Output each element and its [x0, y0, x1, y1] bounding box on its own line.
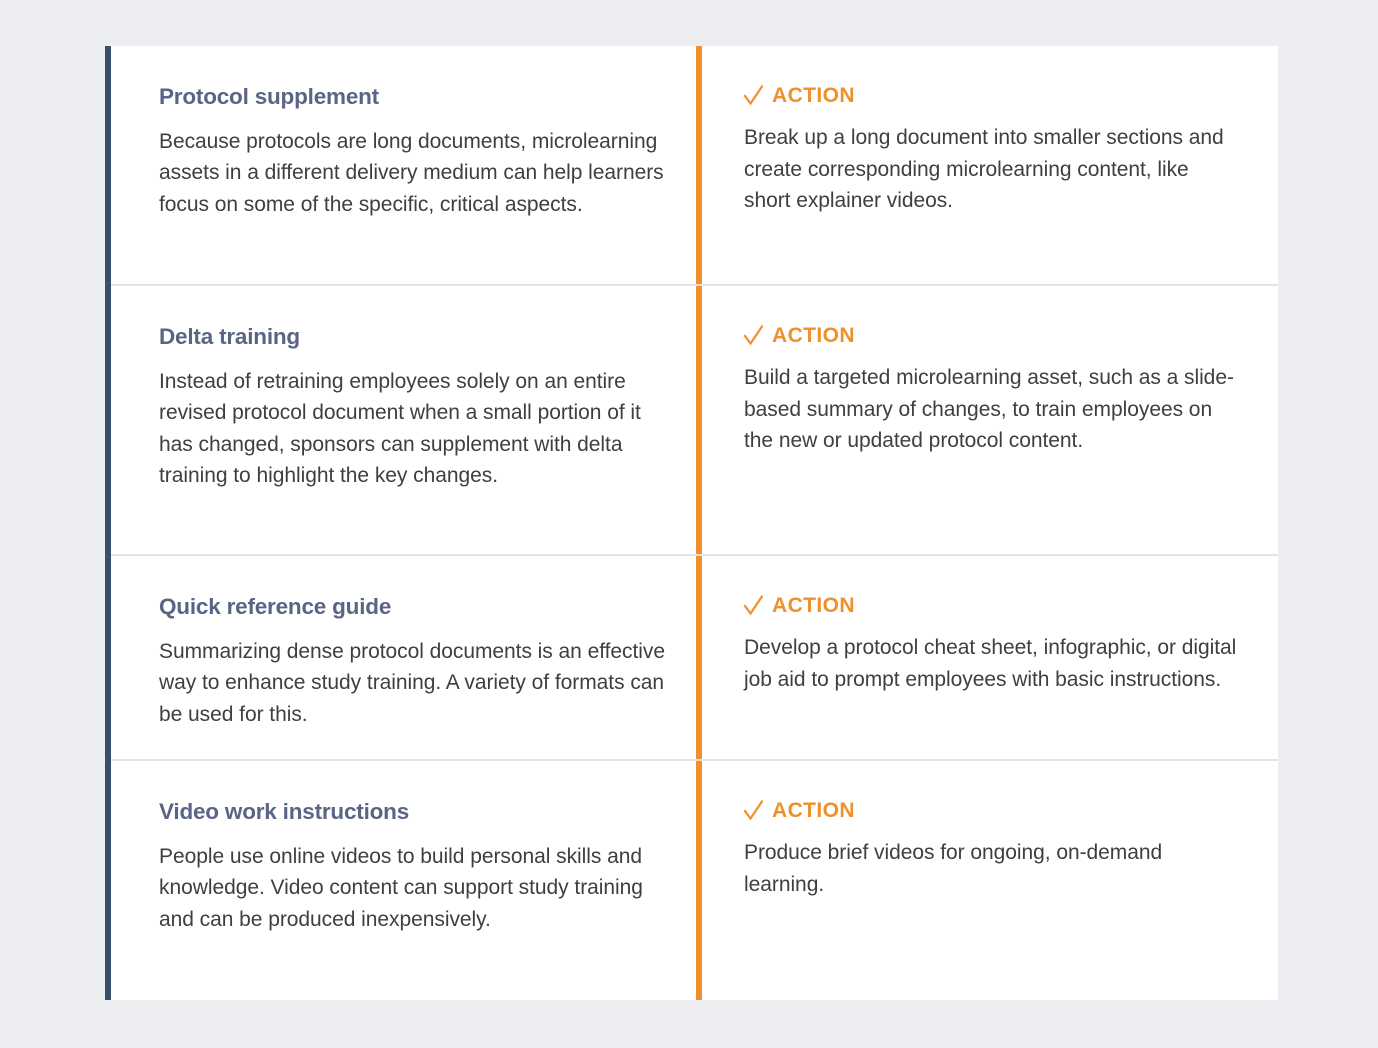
action-cell: ACTION Produce brief videos for ongoing,…	[696, 761, 1278, 1000]
table-rows: Protocol supplement Because protocols ar…	[111, 46, 1278, 1000]
topic-title: Protocol supplement	[159, 84, 666, 110]
topic-description: Instead of retraining employees solely o…	[159, 366, 666, 492]
action-cell: ACTION Develop a protocol cheat sheet, i…	[696, 556, 1278, 759]
action-label: ACTION	[744, 594, 1238, 617]
action-label-text: ACTION	[772, 84, 855, 107]
action-label: ACTION	[744, 324, 1238, 347]
topic-cell: Video work instructions People use onlin…	[111, 761, 696, 1000]
check-icon	[744, 325, 763, 346]
topic-description: Because protocols are long documents, mi…	[159, 126, 666, 221]
action-description: Develop a protocol cheat sheet, infograp…	[744, 632, 1238, 695]
topic-cell: Protocol supplement Because protocols ar…	[111, 46, 696, 284]
topic-title: Video work instructions	[159, 799, 666, 825]
action-label-text: ACTION	[772, 799, 855, 822]
action-label-text: ACTION	[772, 324, 855, 347]
table-row: Video work instructions People use onlin…	[111, 759, 1278, 1000]
topic-cell: Delta training Instead of retraining emp…	[111, 286, 696, 554]
topic-description: People use online videos to build person…	[159, 841, 666, 936]
table-row: Delta training Instead of retraining emp…	[111, 284, 1278, 554]
action-description: Build a targeted microlearning asset, su…	[744, 362, 1238, 457]
check-icon	[744, 800, 763, 821]
table-row: Protocol supplement Because protocols ar…	[111, 46, 1278, 284]
page-root: Protocol supplement Because protocols ar…	[0, 0, 1378, 1048]
action-cell: ACTION Break up a long document into sma…	[696, 46, 1278, 284]
microlearning-table-card: Protocol supplement Because protocols ar…	[105, 46, 1278, 1000]
topic-title: Quick reference guide	[159, 594, 666, 620]
topic-title: Delta training	[159, 324, 666, 350]
action-description: Produce brief videos for ongoing, on-dem…	[744, 837, 1238, 900]
topic-description: Summarizing dense protocol documents is …	[159, 636, 666, 731]
action-description: Break up a long document into smaller se…	[744, 122, 1238, 217]
action-cell: ACTION Build a targeted microlearning as…	[696, 286, 1278, 554]
action-label: ACTION	[744, 799, 1238, 822]
topic-cell: Quick reference guide Summarizing dense …	[111, 556, 696, 759]
action-label: ACTION	[744, 84, 1238, 107]
check-icon	[744, 595, 763, 616]
action-label-text: ACTION	[772, 594, 855, 617]
check-icon	[744, 85, 763, 106]
table-row: Quick reference guide Summarizing dense …	[111, 554, 1278, 759]
